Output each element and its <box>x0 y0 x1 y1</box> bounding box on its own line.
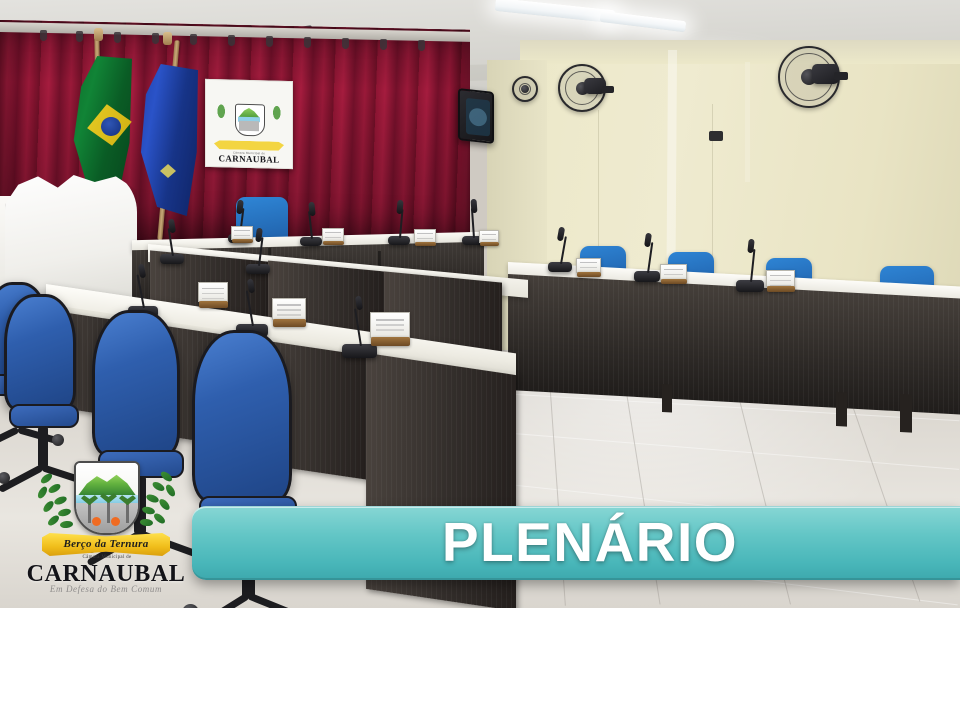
desk-leg <box>900 394 912 433</box>
chair-backrest <box>192 330 292 502</box>
logo-shield <box>74 461 140 535</box>
curtain-hook <box>114 32 121 43</box>
curtain-hook <box>380 39 387 50</box>
mic-capsule <box>471 199 478 213</box>
nameplate-stand <box>273 319 306 327</box>
logo-foliage-left <box>38 471 78 537</box>
shield-palm-tree <box>107 501 110 523</box>
banner-title-text: PLENÁRIO <box>442 515 738 570</box>
curtain-hook <box>190 34 197 45</box>
nameplate-card <box>272 298 306 320</box>
curtain-hook <box>266 36 273 47</box>
plenary-hall-photo: Câmara Municipal de CARNAUBAL <box>0 0 960 608</box>
shield-fruit <box>111 517 120 526</box>
flag-pole-finial <box>163 32 172 45</box>
desk-leg <box>662 384 672 413</box>
nameplate-stand <box>415 242 436 246</box>
logo-ribbon: Berço da Ternura <box>42 533 170 557</box>
shield-fruit <box>92 517 101 526</box>
wall-speaker <box>458 88 494 144</box>
plenary-title-banner: PLENÁRIO <box>192 506 960 580</box>
shield-palm-tree <box>126 503 129 523</box>
curtain-hook <box>228 35 235 46</box>
wall-outlet <box>709 131 723 141</box>
chair-backrest <box>4 294 76 410</box>
chair-caster <box>52 434 64 446</box>
nameplate-card <box>576 258 601 273</box>
plaque-ribbon <box>214 140 284 151</box>
plaque-shield <box>229 103 269 140</box>
nameplate-card <box>414 229 436 243</box>
logo-motto: Em Defesa do Bem Comum <box>22 584 190 594</box>
fan-mount-arm <box>602 86 614 93</box>
nameplate-stand <box>232 239 253 243</box>
nameplate-stand <box>199 301 228 308</box>
nameplate-card <box>322 228 344 242</box>
nameplate-stand <box>323 241 344 245</box>
nameplate-card <box>660 264 687 280</box>
flag-brazil-globe <box>101 117 121 136</box>
fan-hub <box>521 85 529 93</box>
nameplate-card <box>198 282 228 302</box>
logo-ribbon-text: Berço da Ternura <box>63 538 148 550</box>
plaque-foliage-right <box>272 100 284 126</box>
bottom-white-margin <box>0 608 960 720</box>
nameplate-stand <box>767 286 795 292</box>
wall-emblem-plaque: Câmara Municipal de CARNAUBAL <box>205 79 293 169</box>
flag-pole-finial <box>94 28 103 41</box>
nameplate-stand <box>577 272 601 277</box>
plaque-foliage-left <box>214 98 226 124</box>
curtain-hook <box>152 33 159 44</box>
plaque-name: CARNAUBAL <box>218 154 279 165</box>
carnaubal-coat-of-arms-logo: Berço da Ternura Câmara Municipal de CAR… <box>22 455 190 595</box>
shield-palm-tree <box>88 503 91 523</box>
nameplate-card <box>766 270 795 287</box>
nameplate-card <box>370 312 410 338</box>
right-wall-upper <box>520 40 960 64</box>
logo-foliage-right <box>134 469 176 537</box>
plaque-palms <box>239 121 259 132</box>
nameplate-card <box>231 226 253 240</box>
nameplate-stand <box>480 242 499 246</box>
curtain-hook <box>40 30 47 41</box>
curtain-hook <box>342 38 349 49</box>
fan-mount-arm <box>834 72 848 80</box>
nameplate-stand <box>661 279 687 284</box>
screenshot-root: Câmara Municipal de CARNAUBAL <box>0 0 960 720</box>
desk-leg <box>836 392 847 427</box>
curtain-hook <box>76 31 83 42</box>
chair-backrest <box>92 310 180 456</box>
nameplate-stand <box>371 337 410 346</box>
curtain-hook <box>418 40 425 51</box>
curtain-hook <box>304 37 311 48</box>
right-desk-body <box>508 274 960 414</box>
chair-seat <box>9 404 79 428</box>
